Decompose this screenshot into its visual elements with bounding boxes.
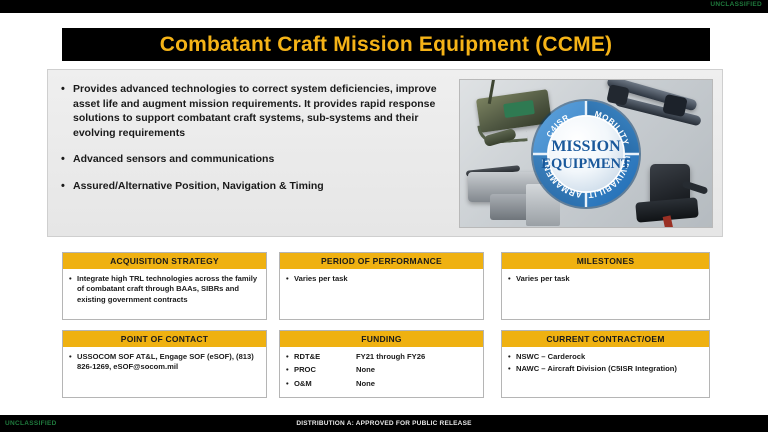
bullet-dot-icon: •	[69, 352, 77, 373]
mission-equipment-emblem: C4ISR MOBILITY SURVIVABILITY ARMAMENT MI…	[529, 97, 643, 211]
bullet-dot-icon: •	[508, 352, 516, 362]
distribution-statement: DISTRIBUTION A: APPROVED FOR PUBLIC RELE…	[0, 420, 768, 427]
box-header-label: POINT OF CONTACT	[121, 334, 208, 344]
emblem-center-line2: EQUIPMENT	[541, 156, 631, 172]
period-of-performance-box: PERIOD OF PERFORMANCE • Varies per task	[279, 252, 484, 320]
list-item-label: Varies per task	[294, 274, 477, 284]
funding-value: None	[356, 379, 477, 389]
bullet-dot-icon: •	[286, 379, 294, 389]
box-header-label: CURRENT CONTRACT/OEM	[546, 334, 664, 344]
list-item-label: USSOCOM SOF AT&L, Engage SOF (eSOF), (81…	[77, 352, 260, 373]
point-of-contact-box: POINT OF CONTACT • USSOCOM SOF AT&L, Eng…	[62, 330, 267, 398]
box-body: • RDT&E FY21 through FY26 • PROC None • …	[280, 347, 483, 389]
box-header-label: PERIOD OF PERFORMANCE	[321, 256, 442, 266]
box-body: • Integrate high TRL technologies across…	[63, 269, 266, 305]
box-header: FUNDING	[280, 331, 483, 347]
list-item: • Varies per task	[286, 274, 477, 284]
overview-bullet-text: Advanced sensors and communications	[73, 152, 461, 167]
list-item-label: NAWC – Aircraft Division (C5ISR Integrat…	[516, 364, 703, 374]
classification-top-right: UNCLASSIFIED	[710, 1, 762, 8]
bullet-dot-icon: •	[61, 82, 73, 140]
list-item: • Assured/Alternative Position, Navigati…	[61, 179, 461, 194]
funding-value: None	[356, 365, 477, 375]
box-header: MILESTONES	[502, 253, 709, 269]
box-header-label: MILESTONES	[577, 256, 635, 266]
bullet-dot-icon: •	[69, 274, 77, 305]
funding-row: • PROC None	[286, 365, 477, 375]
box-body: • Varies per task	[502, 269, 709, 284]
overview-bullet-text: Provides advanced technologies to correc…	[73, 82, 461, 140]
box-header: CURRENT CONTRACT/OEM	[502, 331, 709, 347]
bullet-dot-icon: •	[508, 274, 516, 284]
page-title: Combatant Craft Mission Equipment (CCME)	[160, 33, 613, 57]
box-header-label: FUNDING	[361, 334, 401, 344]
bottom-classification-bar: UNCLASSIFIED DISTRIBUTION A: APPROVED FO…	[0, 415, 768, 432]
bullet-dot-icon: •	[286, 352, 294, 362]
funding-box: FUNDING • RDT&E FY21 through FY26 • PROC…	[279, 330, 484, 398]
list-item: • Varies per task	[508, 274, 703, 284]
box-body: • NSWC – Carderock • NAWC – Aircraft Div…	[502, 347, 709, 375]
slide: UNCLASSIFIED Combatant Craft Mission Equ…	[0, 0, 768, 432]
funding-value: FY21 through FY26	[356, 352, 477, 362]
list-item: • USSOCOM SOF AT&L, Engage SOF (eSOF), (…	[69, 352, 260, 373]
funding-row: • O&M None	[286, 379, 477, 389]
current-contract-oem-box: CURRENT CONTRACT/OEM • NSWC – Carderock …	[501, 330, 710, 398]
milestones-box: MILESTONES • Varies per task	[501, 252, 710, 320]
top-classification-bar: UNCLASSIFIED	[0, 0, 768, 13]
box-header: ACQUISITION STRATEGY	[63, 253, 266, 269]
list-item-label: NSWC – Carderock	[516, 352, 703, 362]
bullet-dot-icon: •	[508, 364, 516, 374]
mission-equipment-graphic: C4ISR MOBILITY SURVIVABILITY ARMAMENT MI…	[459, 79, 713, 228]
overview-panel: • Provides advanced technologies to corr…	[47, 69, 723, 237]
box-body: • Varies per task	[280, 269, 483, 284]
overview-bullet-text: Assured/Alternative Position, Navigation…	[73, 179, 461, 194]
list-item-label: Integrate high TRL technologies across t…	[77, 274, 260, 305]
funding-key: RDT&E	[294, 352, 356, 362]
list-item-label: Varies per task	[516, 274, 703, 284]
list-item: • Integrate high TRL technologies across…	[69, 274, 260, 305]
box-header: PERIOD OF PERFORMANCE	[280, 253, 483, 269]
box-header: POINT OF CONTACT	[63, 331, 266, 347]
funding-key: O&M	[294, 379, 356, 389]
overview-bullet-list: • Provides advanced technologies to corr…	[61, 82, 461, 206]
box-body: • USSOCOM SOF AT&L, Engage SOF (eSOF), (…	[63, 347, 266, 373]
bullet-dot-icon: •	[286, 365, 294, 375]
acquisition-strategy-box: ACQUISITION STRATEGY • Integrate high TR…	[62, 252, 267, 320]
bullet-dot-icon: •	[61, 179, 73, 194]
emblem-center-line1: MISSION	[551, 138, 621, 155]
slide-title-bar: Combatant Craft Mission Equipment (CCME)	[62, 28, 710, 61]
list-item: • NSWC – Carderock	[508, 352, 703, 362]
list-item: • Advanced sensors and communications	[61, 152, 461, 167]
box-header-label: ACQUISITION STRATEGY	[110, 256, 219, 266]
funding-row: • RDT&E FY21 through FY26	[286, 352, 477, 362]
funding-key: PROC	[294, 365, 356, 375]
bullet-dot-icon: •	[61, 152, 73, 167]
list-item: • NAWC – Aircraft Division (C5ISR Integr…	[508, 364, 703, 374]
list-item: • Provides advanced technologies to corr…	[61, 82, 461, 140]
bullet-dot-icon: •	[286, 274, 294, 284]
